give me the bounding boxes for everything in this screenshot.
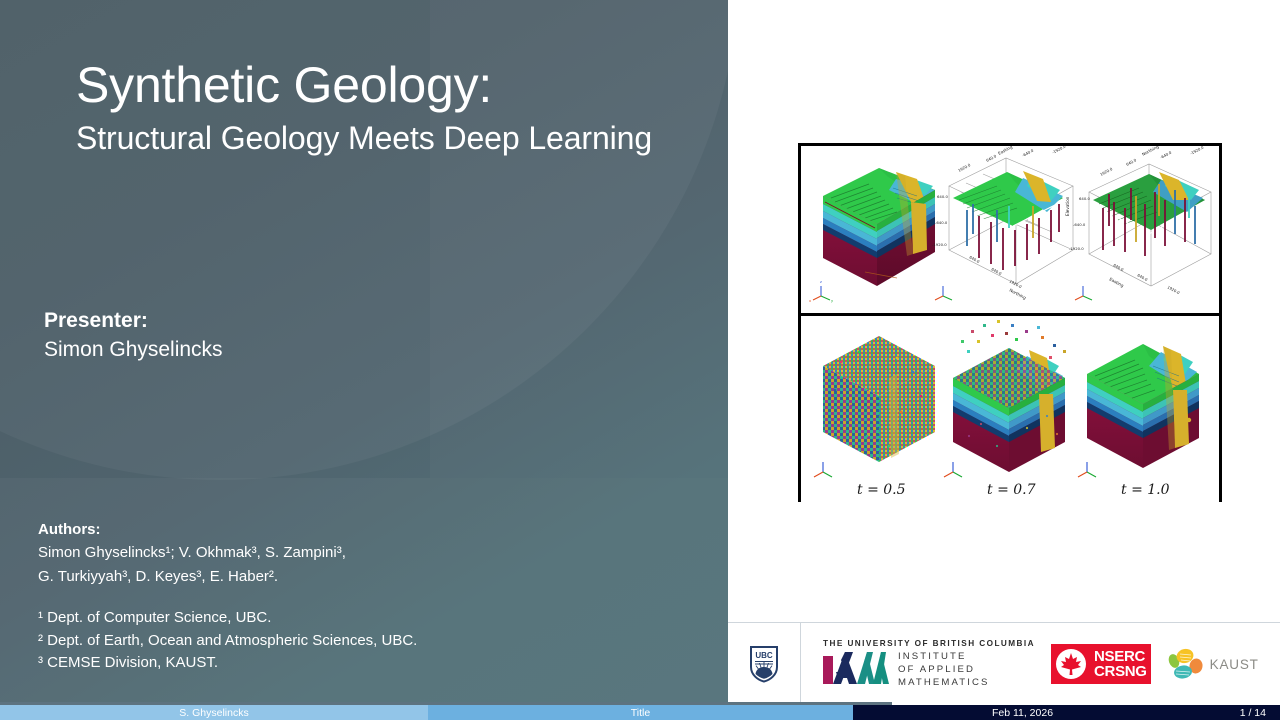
svg-text:640.0: 640.0 <box>1113 262 1125 272</box>
axis-gizmo-icon <box>935 286 952 300</box>
authors-line-2: G. Turkiyyah³, D. Keyes³, E. Haber². <box>38 565 698 588</box>
ubc-iam-logo: THE UNIVERSITY OF BRITISH COLUMBIA INSTI… <box>823 639 1035 690</box>
kaust-mark-icon <box>1167 647 1205 681</box>
svg-text:y: y <box>831 299 834 303</box>
axis-gizmo-icon: z y x <box>809 280 834 303</box>
svg-text:-1920.0: -1920.0 <box>1069 246 1084 251</box>
authors-label: Authors: <box>38 518 698 541</box>
geology-figure: z y x <box>798 143 1222 502</box>
nserc-line-2: CRSNG <box>1094 664 1147 679</box>
svg-text:-640.0: -640.0 <box>1073 222 1086 227</box>
diffusion-clean-cube: t = 1.0 <box>1078 344 1199 498</box>
svg-text:-640.0: -640.0 <box>1159 149 1173 159</box>
diffusion-sequence-svg: t = 0.5 <box>801 316 1219 499</box>
ubc-shield-icon: UBC <box>749 645 779 683</box>
affiliation-1: ¹ Dept. of Computer Science, UBC. <box>38 607 698 630</box>
iam-mark-icon <box>823 650 889 684</box>
svg-text:z: z <box>820 280 822 284</box>
geology-block-models-svg: z y x <box>801 146 1219 313</box>
ubc-logo-cell: UBC <box>728 622 800 706</box>
svg-text:Northing: Northing <box>1009 287 1028 300</box>
presenter-label: Presenter: <box>44 307 223 335</box>
iam-mark-row: INSTITUTE OF APPLIED MATHEMATICS <box>823 650 1035 690</box>
svg-text:1920.0: 1920.0 <box>1167 284 1182 295</box>
svg-text:1920.0: 1920.0 <box>957 162 972 173</box>
diffusion-label-t10: t = 1.0 <box>1121 482 1170 498</box>
iam-line-1: INSTITUTE <box>898 650 990 663</box>
affiliation-3: ³ CEMSE Division, KAUST. <box>38 652 698 675</box>
presenter-name: Simon Ghyselincks <box>44 335 223 365</box>
svg-text:640.0: 640.0 <box>1079 196 1090 201</box>
nserc-maple-badge <box>1051 644 1091 684</box>
axis-gizmo-icon <box>1078 462 1096 477</box>
svg-text:UBC: UBC <box>755 651 773 660</box>
title-block: Synthetic Geology: Structural Geology Me… <box>76 58 696 158</box>
svg-text:-1920.0: -1920.0 <box>1051 146 1067 155</box>
svg-text:640.0: 640.0 <box>1125 157 1137 167</box>
diffusion-label-t05: t = 0.5 <box>857 482 906 498</box>
footer-author[interactable]: S. Ghyselincks <box>0 705 428 720</box>
svg-text:x: x <box>809 299 812 303</box>
affiliation-2: ² Dept. of Earth, Ocean and Atmospheric … <box>38 630 698 653</box>
axis-gizmo-icon <box>1075 286 1092 300</box>
iam-university-line: THE UNIVERSITY OF BRITISH COLUMBIA <box>823 639 1035 648</box>
figure-top-panel: z y x <box>801 146 1219 316</box>
slide-subtitle: Structural Geology Meets Deep Learning <box>76 120 696 158</box>
geology-block-model: z y x <box>809 168 935 303</box>
nserc-circle <box>1056 649 1086 679</box>
iam-line-2: OF APPLIED <box>898 663 990 676</box>
svg-text:640.0: 640.0 <box>937 194 948 199</box>
slide-title: Synthetic Geology: <box>76 58 696 112</box>
svg-text:640.0: 640.0 <box>985 153 997 163</box>
title-panel: Synthetic Geology: Structural Geology Me… <box>0 0 728 705</box>
diffusion-noise-cube: t = 0.5 <box>814 336 935 498</box>
nserc-logo: NSERC CRSNG <box>1051 644 1151 684</box>
svg-text:640.0: 640.0 <box>1137 272 1149 282</box>
svg-text:-1920.0: -1920.0 <box>932 242 947 247</box>
svg-text:Easting: Easting <box>997 146 1013 156</box>
svg-text:-640.0: -640.0 <box>935 220 948 225</box>
svg-text:1920.0: 1920.0 <box>1099 166 1114 177</box>
diffusion-partial-cube: t = 0.7 <box>944 320 1066 498</box>
authors-block: Authors: Simon Ghyselincks¹; V. Okhmak³,… <box>38 518 698 675</box>
svg-text:Easting: Easting <box>1109 276 1125 288</box>
geology-borehole-model-elevation: Northing 1920.0 640.0 -640.0 -1920.0 640… <box>1065 146 1211 300</box>
svg-text:Northing: Northing <box>1141 146 1160 157</box>
footer-section[interactable]: Title <box>428 705 853 720</box>
kaust-wordmark: KAUST <box>1210 657 1259 672</box>
partner-logos: THE UNIVERSITY OF BRITISH COLUMBIA INSTI… <box>801 622 1280 705</box>
axis-gizmo-icon <box>944 462 962 477</box>
svg-text:Elevation: Elevation <box>1065 196 1070 216</box>
iam-line-3: MATHEMATICS <box>898 676 990 689</box>
iam-wordmark: INSTITUTE OF APPLIED MATHEMATICS <box>898 650 990 690</box>
svg-text:-640.0: -640.0 <box>1021 147 1035 157</box>
geology-borehole-model-northing: Easting 1920.0 640.0 -640.0 -1920.0 640.… <box>932 146 1073 301</box>
slide-footer: S. Ghyselincks Title Feb 11, 2026 1 / 14 <box>0 705 1280 720</box>
kaust-logo: KAUST <box>1167 647 1259 681</box>
axis-gizmo-icon <box>814 462 832 477</box>
presentation-slide: Synthetic Geology: Structural Geology Me… <box>0 0 1280 720</box>
logo-strip: UBC THE UNIVERSITY OF BRITISH COLUMBIA <box>728 622 1280 705</box>
nserc-wordmark: NSERC CRSNG <box>1091 644 1151 684</box>
authors-line-1: Simon Ghyselincks¹; V. Okhmak³, S. Zampi… <box>38 541 698 564</box>
svg-text:-1920.0: -1920.0 <box>1189 146 1205 156</box>
footer-date[interactable]: Feb 11, 2026 <box>853 705 1192 720</box>
footer-page-number[interactable]: 1 / 14 <box>1192 705 1280 720</box>
presenter-block: Presenter: Simon Ghyselincks <box>44 307 223 366</box>
maple-leaf-icon <box>1056 649 1086 679</box>
figure-bottom-panel: t = 0.5 <box>801 316 1219 502</box>
nserc-line-1: NSERC <box>1094 649 1147 664</box>
diffusion-label-t07: t = 0.7 <box>987 482 1036 498</box>
spacer <box>38 588 698 607</box>
svg-text:640.0: 640.0 <box>991 266 1003 276</box>
